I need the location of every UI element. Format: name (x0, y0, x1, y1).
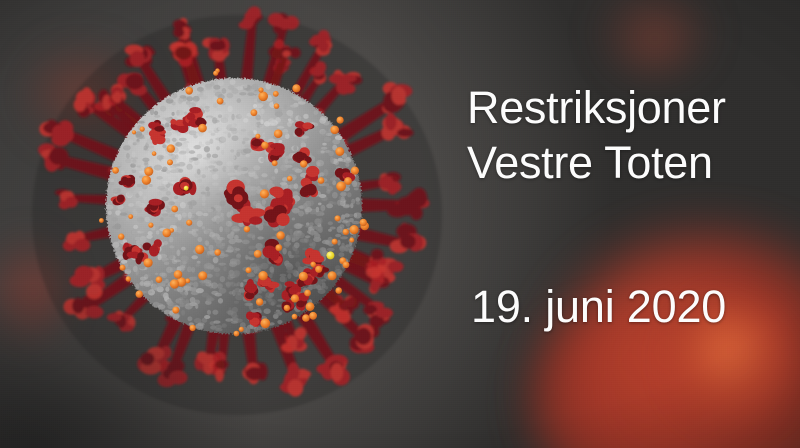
covid-restrictions-banner: Restriksjoner Vestre Toten 19. juni 2020 (0, 0, 800, 448)
corner-shadow (0, 238, 330, 448)
